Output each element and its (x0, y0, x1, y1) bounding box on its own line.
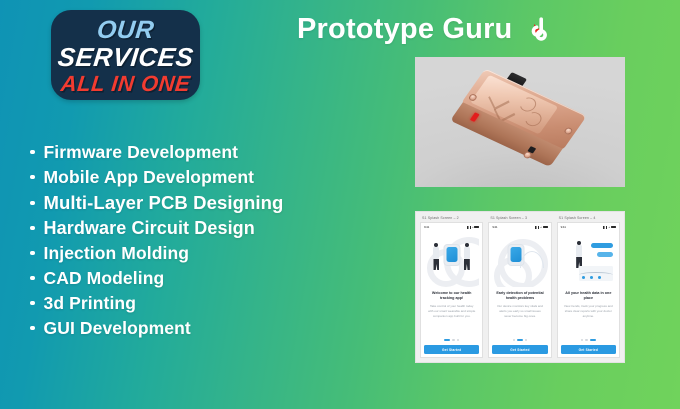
screen-body: View trends, track your progress and sha… (561, 304, 616, 318)
signal-icon (603, 226, 607, 229)
pagination-dots[interactable] (424, 339, 479, 341)
list-item: Multi-Layer PCB Designing (30, 192, 283, 214)
trend-graph-icon (579, 266, 613, 281)
service-label: 3d Printing (44, 293, 137, 314)
smartwatch-icon (443, 244, 460, 266)
person-figure (575, 241, 584, 269)
status-indicators: ▵ (467, 226, 480, 229)
screen-title: Welcome to our health tracking app! (424, 291, 479, 302)
battery-icon (543, 226, 548, 229)
list-item: CAD Modeling (30, 268, 283, 289)
person-figure (462, 243, 471, 271)
dot-active[interactable] (590, 339, 596, 341)
pagination-dots[interactable] (561, 339, 616, 341)
mockup-screen-3: S1 Splash Screen – 4 9:41 ▵ (557, 216, 620, 358)
bullet-icon (30, 301, 35, 306)
list-item: 3d Printing (30, 293, 283, 314)
person-head (577, 241, 581, 245)
status-bar: 9:41 ▵ (424, 225, 479, 230)
get-started-button[interactable]: Get Started (561, 345, 616, 354)
pagination-dots[interactable] (492, 339, 547, 341)
wifi-icon: ▵ (608, 226, 610, 229)
bullet-icon (30, 175, 35, 180)
service-label: CAD Modeling (44, 268, 165, 289)
graph-dots (582, 276, 601, 279)
wifi-icon: ▵ (472, 226, 474, 229)
bullet-icon (30, 276, 35, 281)
person-legs (434, 259, 440, 270)
hero-illustration (424, 231, 479, 287)
status-indicators: ▵ (535, 226, 548, 229)
services-list: Firmware Development Mobile App Developm… (30, 142, 283, 343)
dot-active[interactable] (517, 339, 523, 341)
our-services-badge: OUR SERVICES ALL IN ONE (51, 10, 200, 100)
graph-dot (590, 276, 593, 279)
battery-icon (474, 226, 479, 229)
service-label: GUI Development (44, 318, 191, 339)
phone-frame: 9:41 ▵ (420, 222, 483, 359)
watch-screen (446, 247, 457, 262)
service-label: Multi-Layer PCB Designing (44, 192, 284, 214)
screen-body: Take control of your health today with o… (424, 304, 479, 318)
status-indicators: ▵ (603, 226, 616, 229)
person-body (434, 247, 440, 259)
person-body (464, 247, 470, 259)
wifi-icon: ▵ (540, 226, 542, 229)
brand-headline: Prototype Guru (297, 13, 556, 46)
dot[interactable] (452, 339, 454, 341)
status-time: 9:41 (424, 225, 429, 229)
get-started-button[interactable]: Get Started (492, 345, 547, 354)
app-mockups-panel: S1 Splash Screen – 2 9:41 ▵ (415, 211, 625, 363)
badge-line-all-in-one: ALL IN ONE (60, 73, 192, 95)
service-label: Mobile App Development (44, 167, 255, 188)
get-started-button[interactable]: Get Started (424, 345, 479, 354)
screen-body: Our device monitors key vitals and alert… (492, 304, 547, 318)
watch-screen (510, 247, 521, 262)
status-bar: 9:41 ▵ (561, 225, 616, 230)
status-bar: 9:41 ▵ (492, 225, 547, 230)
badge-line-services: SERVICES (56, 44, 194, 70)
graph-dot (582, 276, 585, 279)
bullet-icon (30, 326, 35, 331)
person-head (465, 243, 469, 247)
mockup-screen-2: S1 Splash Screen – 3 9:41 ▵ (488, 216, 551, 358)
person-figure (432, 243, 441, 271)
signal-icon (467, 226, 471, 229)
dot[interactable] (581, 339, 583, 341)
hero-illustration (492, 231, 547, 287)
mockup-screen-1: S1 Splash Screen – 2 9:41 ▵ (420, 216, 483, 358)
screen-title: Early detection of potential health prob… (492, 291, 547, 302)
bullet-icon (30, 226, 35, 231)
service-label: Hardware Circuit Design (44, 218, 255, 239)
battery-icon (611, 226, 616, 229)
person-body (576, 245, 582, 257)
phone-frame: 9:41 ▵ (557, 222, 620, 359)
signal-icon (535, 226, 539, 229)
product-photo (415, 57, 625, 187)
list-item: Firmware Development (30, 142, 283, 163)
page-title: Prototype Guru (297, 13, 512, 46)
service-label: Injection Molding (44, 243, 190, 264)
list-item: Injection Molding (30, 243, 283, 264)
hero-illustration (561, 231, 616, 287)
status-time: 9:41 (561, 225, 566, 229)
dot[interactable] (525, 339, 527, 341)
screen-title: All your health data in one place (561, 291, 616, 302)
status-time: 9:41 (492, 225, 497, 229)
bullet-icon (30, 150, 35, 155)
dot[interactable] (513, 339, 515, 341)
metric-chip (597, 252, 613, 257)
list-item: GUI Development (30, 318, 283, 339)
dot-active[interactable] (444, 339, 450, 341)
bullet-icon (30, 251, 35, 256)
metric-chip (591, 243, 613, 248)
bullet-icon (30, 201, 35, 206)
dot[interactable] (457, 339, 459, 341)
list-item: Hardware Circuit Design (30, 218, 283, 239)
service-poster: OUR SERVICES ALL IN ONE Prototype Guru F… (0, 0, 680, 409)
phone-frame: 9:41 ▵ Early detection of potential h (488, 222, 551, 359)
graph-dot (598, 276, 601, 279)
list-item: Mobile App Development (30, 167, 283, 188)
badge-line-our: OUR (96, 18, 156, 43)
person-head (435, 243, 439, 247)
person-legs (464, 259, 470, 270)
dot[interactable] (585, 339, 587, 341)
service-label: Firmware Development (44, 142, 239, 163)
swirl-brand-icon (526, 15, 556, 45)
